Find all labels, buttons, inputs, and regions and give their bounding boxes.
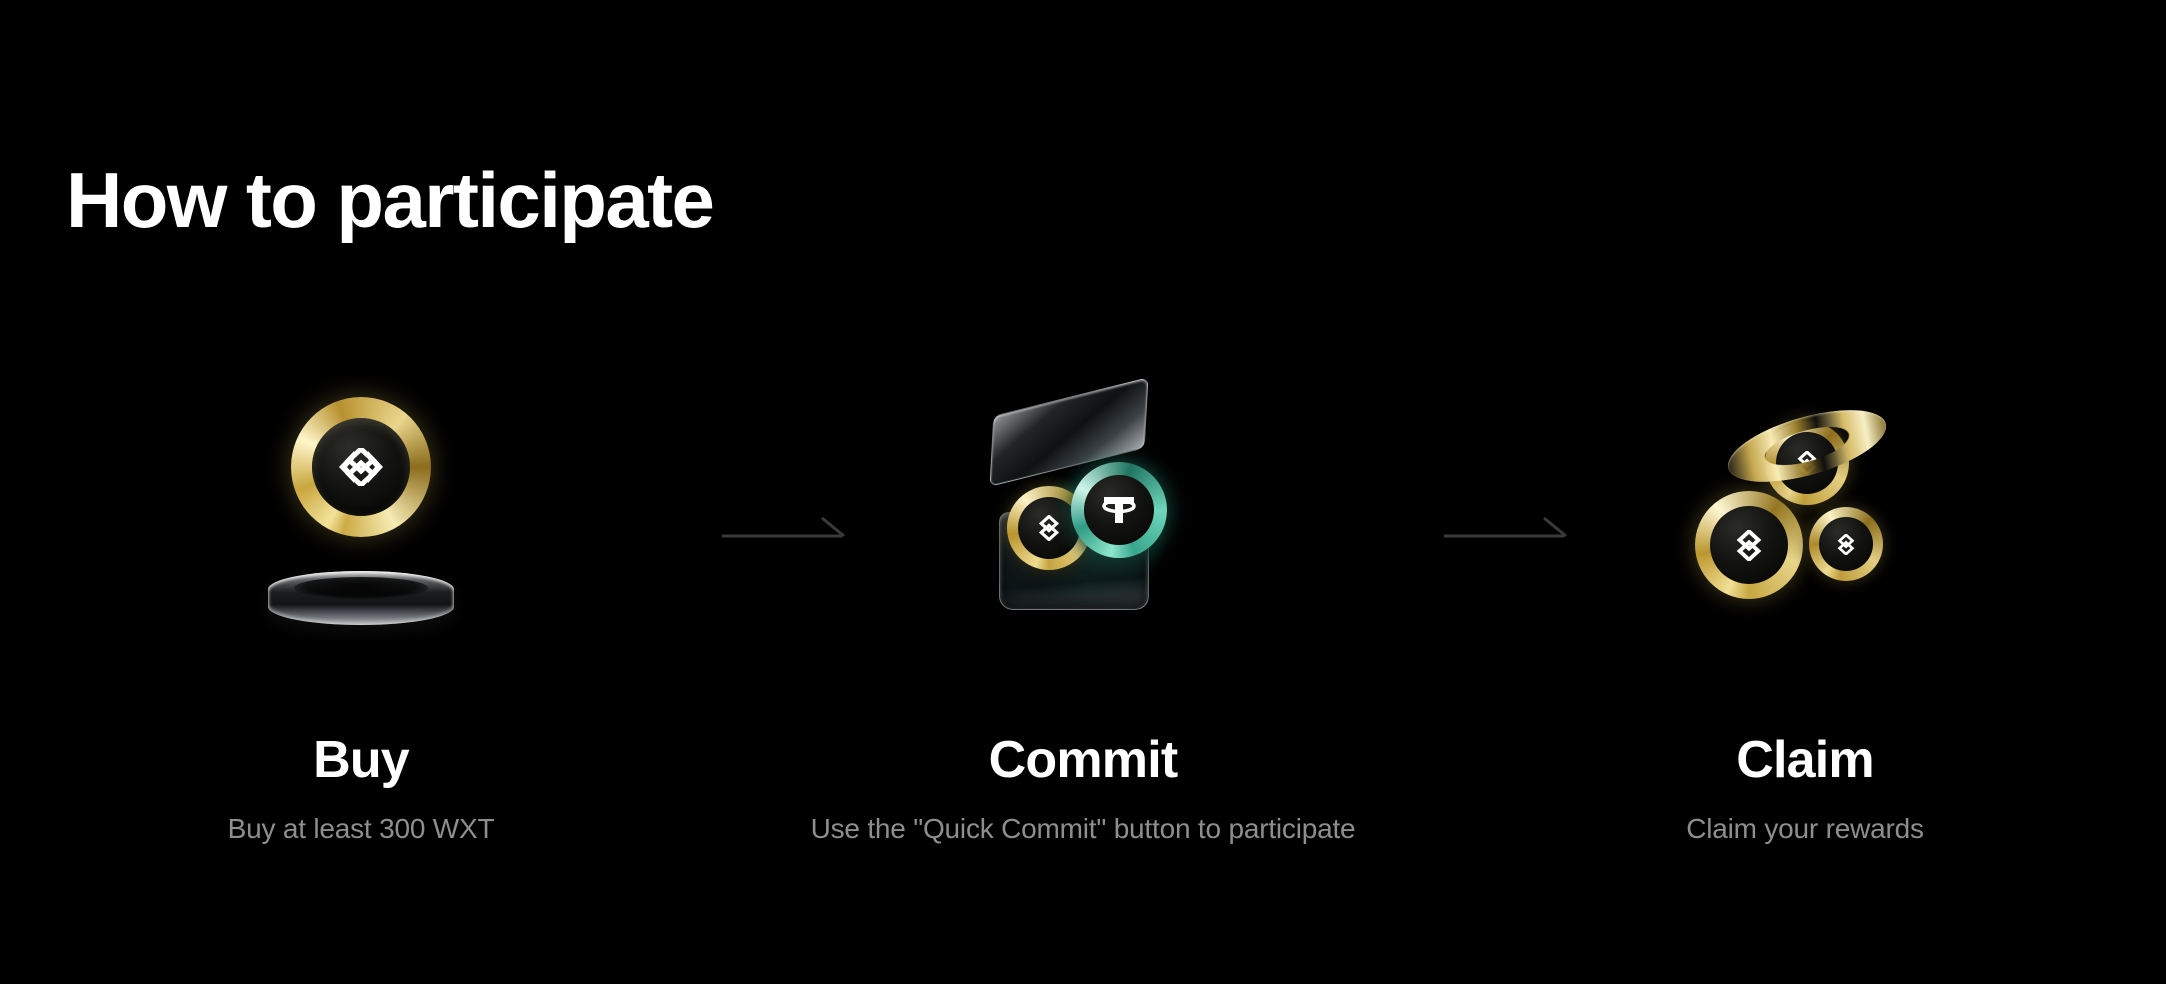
how-to-participate-section: How to participate	[0, 0, 2166, 984]
step-title: Commit	[989, 730, 1178, 790]
step-description: Claim your rewards	[1686, 812, 1924, 846]
wxt-coin	[1809, 507, 1883, 581]
step-buy-illustration-wrap	[211, 400, 511, 620]
page-title: How to participate	[66, 152, 713, 248]
step-description: Buy at least 300 WXT	[228, 812, 495, 846]
usdt-coin	[1071, 462, 1167, 558]
step-claim-illustration-wrap	[1655, 400, 1955, 620]
step-commit: Commit Use the "Quick Commit" button to …	[722, 400, 1444, 846]
step-description: Use the "Quick Commit" button to partici…	[811, 812, 1356, 846]
wxt-logo-icon	[1727, 530, 1771, 561]
glass-treasure-chest-with-coins-illustration	[963, 390, 1203, 630]
step-title: Claim	[1736, 730, 1874, 790]
wxt-logo-icon	[1031, 515, 1067, 541]
step-buy: Buy Buy at least 300 WXT	[0, 400, 722, 846]
wxt-coin	[1695, 491, 1803, 599]
step-title: Buy	[313, 730, 409, 790]
wxt-logo-icon	[1831, 534, 1861, 555]
wxt-coin	[291, 397, 431, 537]
step-claim: Claim Claim your rewards	[1444, 400, 2166, 846]
step-commit-illustration-wrap	[933, 400, 1233, 620]
steps-row: Buy Buy at least 300 WXT	[0, 400, 2166, 880]
wxt-logo-icon	[333, 448, 389, 486]
glass-pedestal	[268, 571, 454, 625]
gold-wxt-coin-on-pedestal-illustration	[251, 395, 471, 625]
saturn-ring-gold-coins-illustration	[1685, 395, 1925, 625]
tether-logo-icon	[1098, 493, 1140, 527]
